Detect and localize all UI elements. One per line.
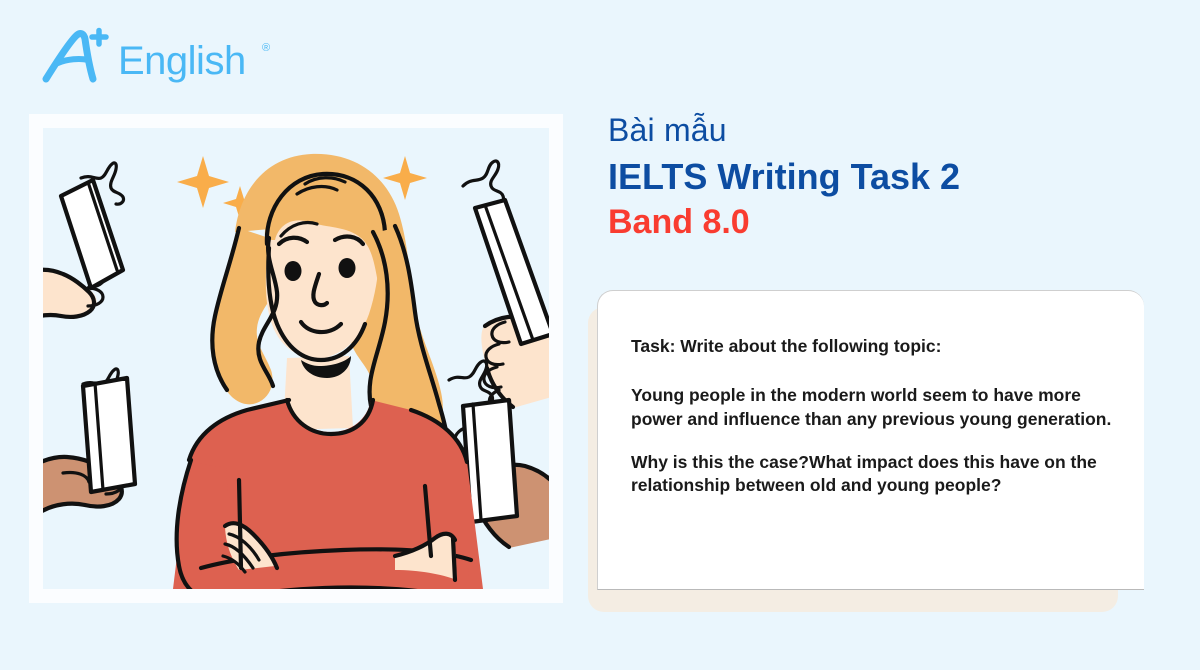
task-prompt-label: Task: Write about the following topic: [631,335,1114,358]
eye-left [285,261,302,281]
sleeve-cuff-line [453,538,455,580]
illustration-canvas: .ol { fill:none; stroke:#111; stroke-wid… [43,128,549,589]
task-topic-text: Young people in the modern world seem to… [631,384,1114,431]
page-title: IELTS Writing Task 2 [608,155,1168,198]
task-card: Task: Write about the following topic: Y… [597,290,1144,590]
eye-right [339,258,356,278]
illustration-frame: .ol { fill:none; stroke:#111; stroke-wid… [29,114,563,603]
task-questions-text: Why is this the case?What impact does th… [631,451,1114,498]
registered-trademark-icon: ® [262,42,270,54]
a-plus-english-logo-mark: English ® [40,27,278,87]
heading-kicker: Bài mẫu [608,112,1168,149]
illustration-artwork: .ol { fill:none; stroke:#111; stroke-wid… [43,128,549,589]
band-score-label: Band 8.0 [608,202,1168,243]
task-card-stack: Task: Write about the following topic: Y… [588,290,1144,612]
heading-block: Bài mẫu IELTS Writing Task 2 Band 8.0 [608,112,1168,243]
fold-line-left [239,480,241,568]
svg-text:English: English [118,39,246,83]
logo-wordmark: English [118,39,246,83]
brand-logo: English ® [40,26,290,88]
